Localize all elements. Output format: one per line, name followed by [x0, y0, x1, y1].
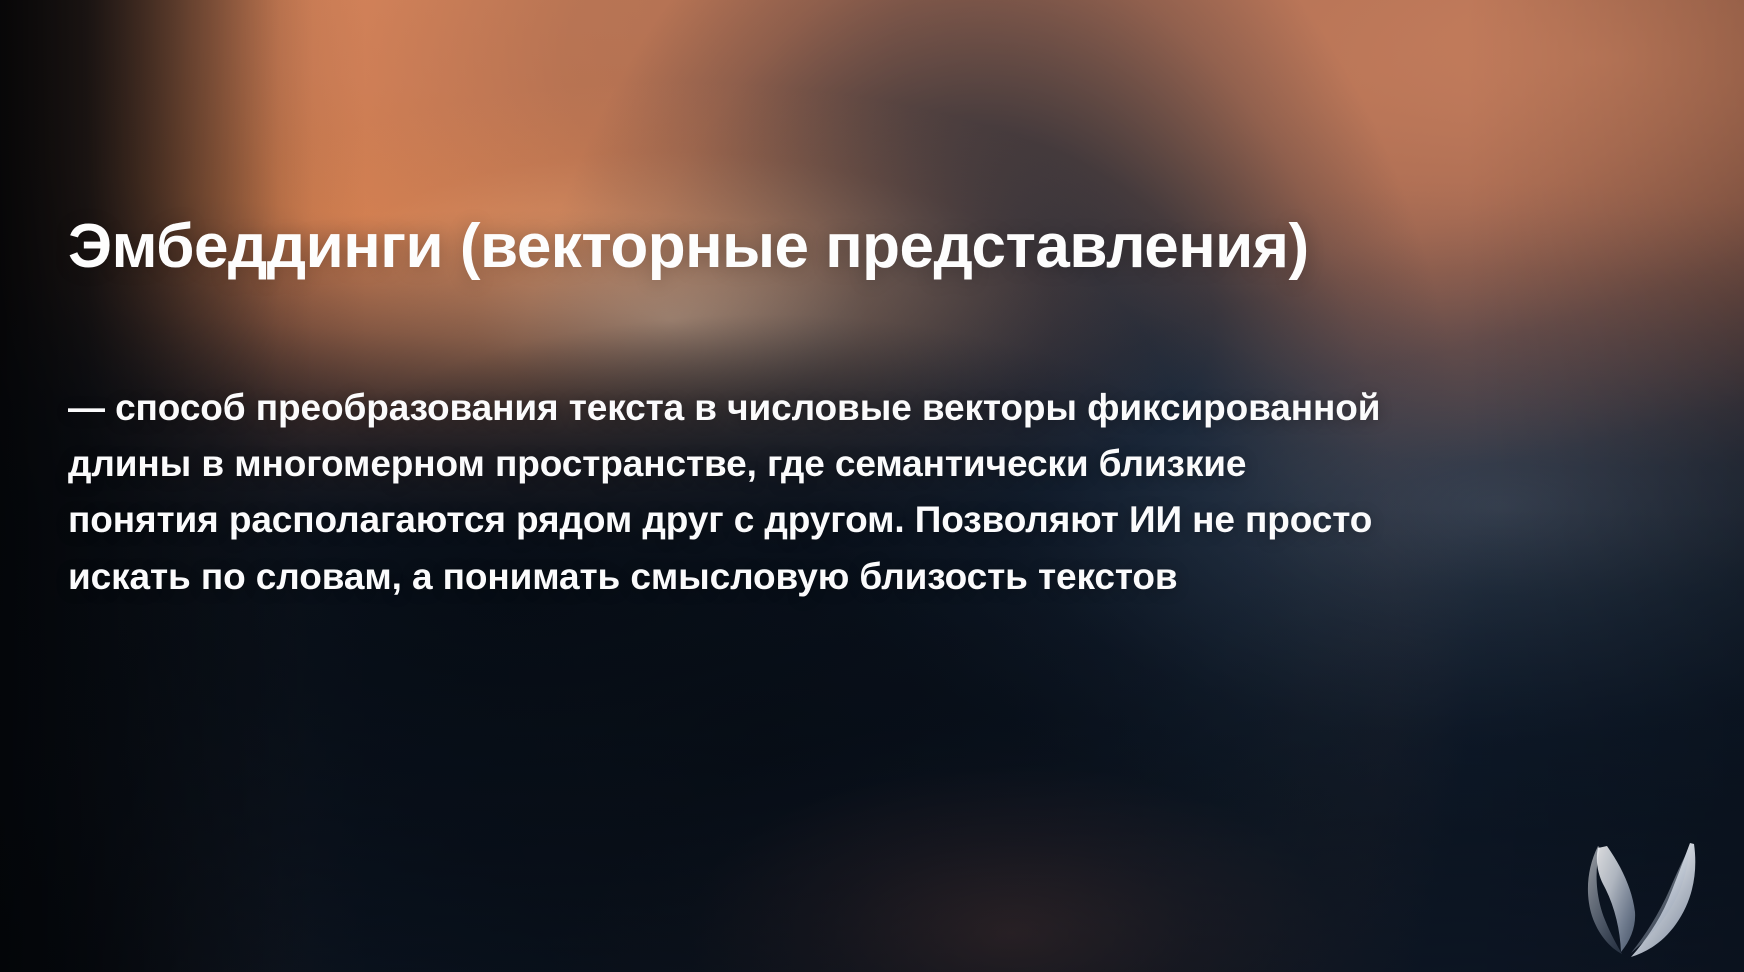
presentation-slide: Эмбеддинги (векторные представления) — с…: [0, 0, 1744, 972]
k-logo: [1576, 788, 1722, 958]
slide-content: Эмбеддинги (векторные представления) — с…: [68, 0, 1488, 972]
slide-title: Эмбеддинги (векторные представления): [68, 214, 1468, 280]
slide-body-text: — способ преобразования текста в числовы…: [68, 380, 1398, 605]
